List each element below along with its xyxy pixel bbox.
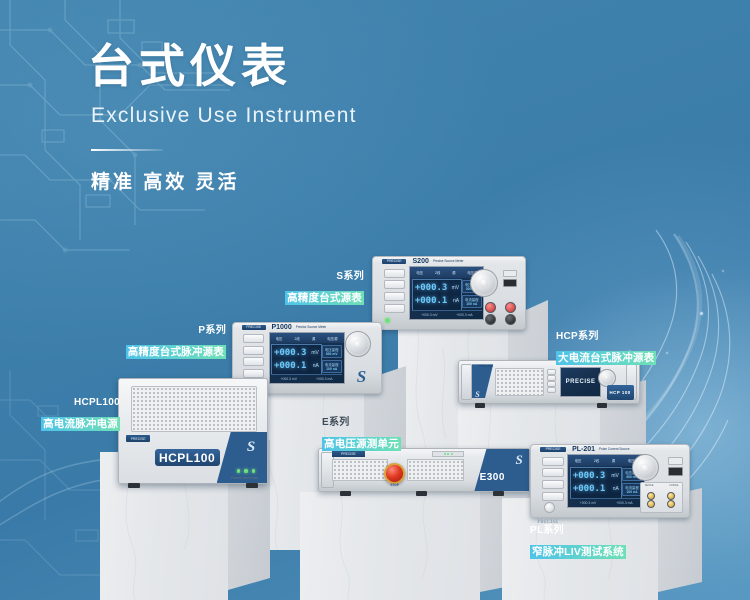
power-button[interactable] — [668, 457, 683, 465]
model-label: S200 Precise Source Meter — [413, 259, 492, 264]
brand-label: PRECISE — [126, 435, 150, 442]
soft-button[interactable] — [547, 375, 556, 381]
ventilation-grille-right — [407, 459, 464, 481]
power-button[interactable] — [544, 502, 555, 513]
terminal-sense-lo[interactable] — [647, 500, 655, 508]
foot — [597, 403, 607, 408]
company-logo: S — [247, 439, 255, 456]
foot — [416, 491, 427, 496]
terminal-sense-lo[interactable] — [505, 314, 516, 325]
screen-range-panel: 电压量程 300 mV 电流量程 100 nA — [321, 344, 342, 373]
rotary-knob[interactable] — [598, 369, 616, 387]
brand-label: PRECISE — [475, 363, 497, 369]
soft-button[interactable] — [243, 357, 264, 366]
secondary-readout: +000.1 nA — [573, 483, 619, 495]
terminal-label-sense: SENSE — [645, 484, 654, 487]
indicator-labels: Power/Lock/Output — [231, 476, 258, 480]
soft-button-column[interactable] — [542, 457, 564, 502]
callout-description: 大电流台式脉冲源表 — [556, 351, 656, 365]
terminal-sense-hi[interactable] — [505, 302, 516, 313]
rack-ear-left — [461, 364, 472, 400]
product-pl-series[interactable]: PRECISE PL-201 Pulse Current Source 电压 2… — [530, 444, 688, 516]
foot — [493, 491, 504, 496]
callout-p-series: P系列 高精度台式脉冲源表 — [108, 324, 226, 361]
screen-readout: +000.3 mV +000.1 nA — [412, 279, 462, 311]
soft-button[interactable] — [243, 369, 264, 378]
soft-button[interactable] — [547, 369, 556, 375]
secondary-readout: +000.1 nA — [274, 360, 319, 372]
soft-button[interactable] — [384, 269, 405, 278]
foot — [128, 483, 140, 488]
range-box: 电流量程 100 nA — [462, 295, 482, 308]
soft-button[interactable] — [542, 492, 564, 501]
secondary-readout: +000.1 nA — [415, 295, 459, 307]
screen-readout: +000.3 mV +000.1 nA — [271, 344, 322, 375]
soft-button-column[interactable] — [547, 369, 556, 393]
callout-description: 高电流脉冲电源 — [41, 417, 120, 431]
company-logo: S — [475, 390, 479, 399]
usb-port[interactable] — [668, 467, 683, 476]
emergency-stop-button[interactable] — [384, 463, 405, 484]
model-badge: E300 — [474, 469, 510, 486]
soft-button[interactable] — [547, 381, 556, 387]
screen-status-bar: 电压 2线 源 电压源 — [270, 333, 344, 343]
model-label: P1000 Precise Source Meter — [271, 325, 348, 330]
page-subtitle: Exclusive Use Instrument — [91, 104, 508, 128]
company-logo: S — [357, 367, 366, 387]
ventilation-grille-left — [332, 459, 389, 481]
callout-description: 高精度台式脉冲源表 — [126, 345, 226, 359]
soft-button[interactable] — [384, 280, 405, 289]
callout-description: 窄脉冲LIV测试系统 — [530, 545, 626, 559]
terminal-panel[interactable]: SENSE FORCE — [640, 482, 683, 513]
pedestal-e — [300, 492, 530, 600]
model-badge: HCPL100 — [155, 449, 220, 467]
callout-series: HCPL100 — [10, 396, 120, 410]
soft-button[interactable] — [542, 480, 564, 489]
marble-veining — [300, 492, 480, 600]
soft-button[interactable] — [384, 304, 405, 313]
soft-button[interactable] — [243, 334, 264, 343]
product-e-series[interactable]: PRECISE STOP S E300 — [318, 448, 528, 490]
product-s-series[interactable]: PRECISE S200 Precise Source Meter 电压 2线 … — [372, 256, 524, 328]
page-title: 台式仪表 — [88, 42, 508, 90]
soft-button[interactable] — [243, 346, 264, 355]
lock-led — [244, 469, 248, 473]
screen-brand-text: PRECISE — [566, 379, 596, 385]
terminal-force-lo[interactable] — [667, 500, 675, 508]
terminal-force-lo[interactable] — [485, 314, 496, 325]
screen-footer: +000.3 mV +000.3 mA — [271, 374, 342, 382]
ventilation-grille — [131, 386, 257, 432]
terminal-force-hi[interactable] — [485, 302, 496, 313]
model-badge: HCP 100 — [607, 385, 634, 399]
callout-series: S系列 — [246, 270, 364, 284]
company-logo: S — [515, 452, 522, 468]
power-button[interactable] — [503, 270, 517, 277]
brand-label: PRECISE — [382, 259, 406, 264]
soft-button-column[interactable] — [384, 269, 405, 314]
screen-footer: +000.3 mV +000.3 mA — [412, 310, 482, 318]
callout-e-series: E系列 高电压源测单元 — [322, 416, 452, 453]
banner-stage: 台式仪表 Exclusive Use Instrument 精准 高效 灵活 — [0, 0, 750, 600]
terminal-label-force: FORCE — [669, 484, 678, 487]
terminal-sense-hi[interactable] — [647, 492, 655, 500]
primary-readout: +000.3 mV — [415, 282, 459, 294]
ventilation-grille — [495, 368, 544, 396]
callout-series: P系列 — [108, 324, 226, 338]
estop-label: STOP — [390, 483, 399, 487]
callout-description: 高精度台式源表 — [285, 291, 364, 305]
power-led — [237, 469, 241, 473]
primary-readout: +000.3 mV — [274, 347, 319, 359]
callout-description: 高电压源测单元 — [322, 437, 401, 451]
callout-series: PL系列 — [530, 524, 670, 538]
primary-readout: +000.3 mV — [573, 470, 619, 482]
brand-label: PRECISE — [540, 447, 565, 452]
sparkle-dot — [700, 312, 703, 315]
callout-pl-series: PL系列 窄脉冲LIV测试系统 — [530, 524, 670, 561]
banner-header: 台式仪表 Exclusive Use Instrument 精准 高效 灵活 — [88, 42, 508, 194]
status-indicators — [237, 469, 256, 473]
tagline: 精准 高效 灵活 — [91, 167, 508, 194]
usb-port[interactable] — [503, 279, 517, 287]
callout-hcpl100: HCPL100 高电流脉冲电源 — [10, 396, 120, 433]
terminal-force-hi[interactable] — [667, 492, 675, 500]
screen-readout: +000.3 mV +000.1 nA — [570, 467, 622, 499]
rotary-knob[interactable] — [470, 269, 498, 297]
foot — [475, 403, 485, 408]
callout-series: E系列 — [322, 416, 452, 430]
foot — [246, 483, 258, 488]
callout-series: HCP系列 — [556, 330, 696, 344]
soft-button-column[interactable] — [243, 334, 264, 377]
rotary-knob[interactable] — [632, 454, 659, 481]
sparkle-dot — [722, 270, 724, 272]
callout-s-series: S系列 高精度台式源表 — [246, 270, 364, 307]
divider — [91, 149, 163, 151]
soft-button[interactable] — [547, 387, 556, 393]
range-box: 电流量程 100 nA — [322, 360, 342, 373]
screen-footer: +000.3 mV +000.3 mA — [570, 498, 643, 506]
model-label: PL-201 Pulse Current Source — [572, 447, 654, 452]
product-hcpl100[interactable]: PRECISE S HCPL100 Power/Lock/Output — [118, 378, 266, 482]
power-led — [385, 318, 390, 323]
callout-hcp-series: HCP系列 大电流台式脉冲源表 — [556, 330, 696, 367]
soft-button[interactable] — [542, 468, 564, 477]
display-screen: PRECISE — [560, 367, 602, 398]
output-led — [252, 469, 256, 473]
rotary-knob[interactable] — [345, 331, 371, 357]
brand-label: PRECISE — [242, 325, 266, 330]
soft-button[interactable] — [384, 292, 405, 301]
foot — [340, 491, 351, 496]
range-box: 电压量程 300 mV — [322, 345, 342, 358]
display-screen: 电压 2线 源 电压源 +000.3 mV +000.1 nA — [269, 332, 345, 384]
soft-button[interactable] — [542, 457, 564, 466]
